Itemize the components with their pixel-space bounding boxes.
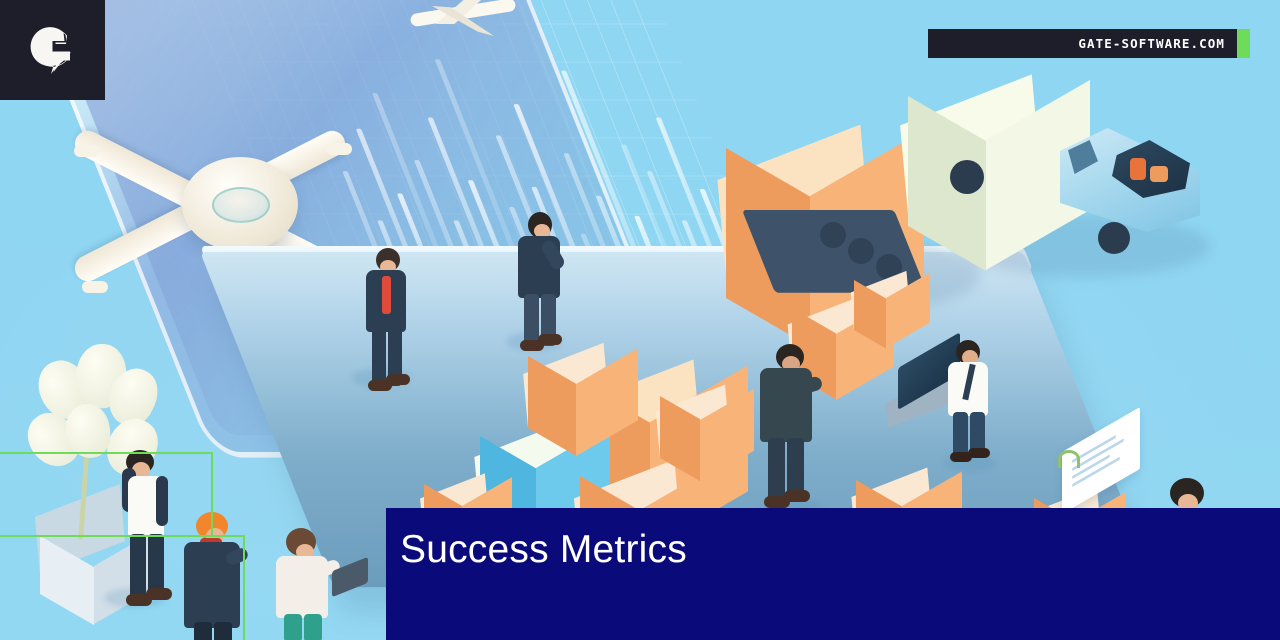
gate-software-logo-icon	[25, 22, 81, 78]
van-driver	[1130, 158, 1146, 180]
detection-box-1	[0, 452, 213, 537]
detection-box-2	[0, 535, 245, 640]
title-band: Success Metrics	[386, 508, 1280, 640]
url-banner-accent	[1237, 29, 1250, 58]
doc-clip-icon	[1058, 450, 1080, 468]
airplane	[392, 0, 522, 42]
trailer-wheel	[820, 222, 846, 248]
van-rear-wheel	[950, 160, 984, 194]
url-banner[interactable]: GATE-SOFTWARE.COM	[928, 29, 1250, 58]
parcel-right-small	[854, 250, 932, 334]
van-front-wheel	[1098, 222, 1130, 254]
slide-canvas: GATE-SOFTWARE.COM Success Metrics	[0, 0, 1280, 640]
url-banner-bar: GATE-SOFTWARE.COM	[928, 29, 1237, 58]
page-title: Success Metrics	[400, 528, 687, 572]
logo-badge[interactable]	[0, 0, 105, 100]
parcel-tied-small	[660, 358, 756, 462]
van-passenger	[1150, 166, 1168, 182]
url-banner-text: GATE-SOFTWARE.COM	[1078, 36, 1225, 51]
